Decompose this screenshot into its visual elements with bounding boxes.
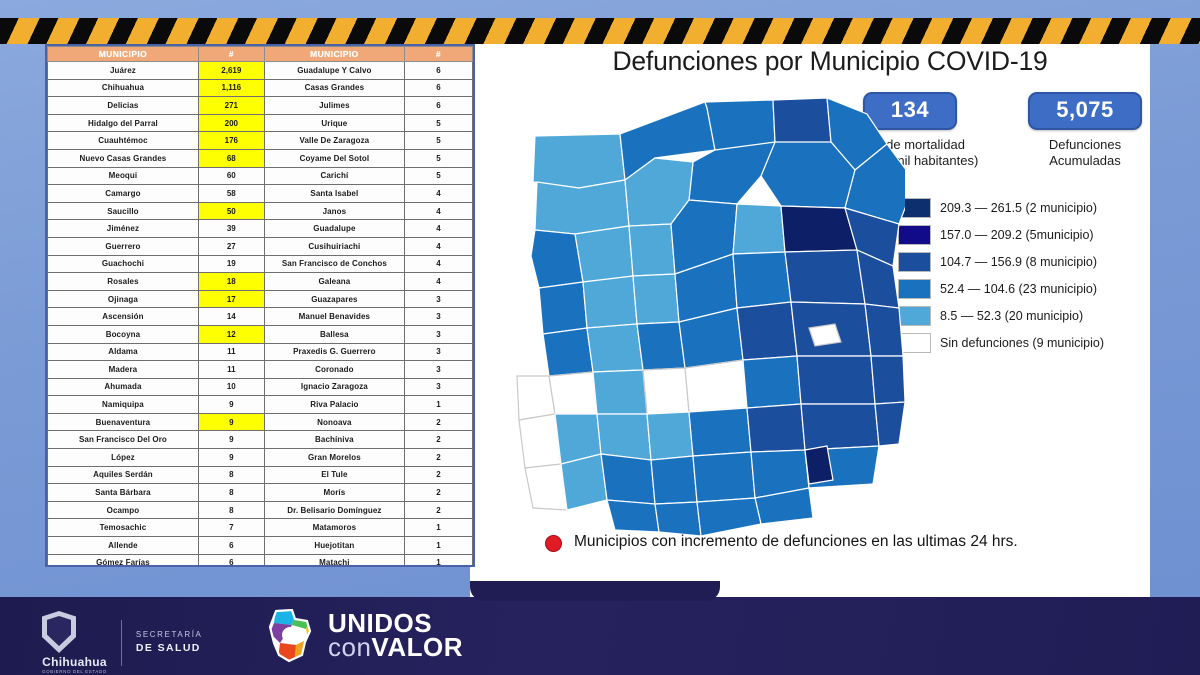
map-region-sin-def-4 [525, 464, 567, 510]
red-dot-icon [545, 535, 562, 552]
table-body: Juárez2,619Guadalupe Y Calvo6Chihuahua1,… [48, 62, 473, 568]
cell-municipio-2: Coyame Del Sotol [264, 149, 404, 167]
cell-municipio-2: Ignacio Zaragoza [264, 378, 404, 396]
cell-municipio-2: Julimes [264, 97, 404, 115]
cell-count-2: 2 [405, 501, 473, 519]
map-region-coyame [785, 250, 865, 304]
cell-municipio-1: Gómez Farías [48, 554, 199, 567]
cell-count-2: 3 [405, 325, 473, 343]
cell-municipio-1: Delicias [48, 97, 199, 115]
cell-municipio-2: Guazapares [264, 290, 404, 308]
cell-municipio-2: Ballesa [264, 325, 404, 343]
map-region-sin-def-5 [643, 368, 689, 414]
table-row: Delicias271Julimes6 [48, 97, 473, 115]
cell-municipio-1: Aldama [48, 343, 199, 361]
state-name: Chihuahua [42, 655, 107, 669]
cell-count-1: 8 [198, 501, 264, 519]
map-svg [475, 84, 905, 539]
footer-notch [470, 581, 720, 601]
municipality-table: MUNICIPIO # MUNICIPIO # Juárez2,619Guada… [47, 46, 473, 567]
map-region-sin-def-3 [519, 414, 561, 468]
map-region-gyc-s [655, 502, 701, 536]
cell-count-1: 200 [198, 114, 264, 132]
stat-value-acumuladas: 5,075 [1028, 92, 1142, 130]
col-header-municipio-1: MUNICIPIO [48, 47, 199, 62]
cell-municipio-2: Nonoava [264, 413, 404, 431]
table-row: Gómez Farías6Matachi1 [48, 554, 473, 567]
cell-municipio-2: Coronado [264, 361, 404, 379]
cell-municipio-1: Chihuahua [48, 79, 199, 97]
cell-count-1: 60 [198, 167, 264, 185]
table-row: Aldama11Praxedis G. Guerrero3 [48, 343, 473, 361]
map-region-aldama [733, 252, 791, 308]
cell-municipio-2: Riva Palacio [264, 396, 404, 414]
cell-count-2: 3 [405, 290, 473, 308]
cell-count-1: 7 [198, 519, 264, 537]
cell-municipio-2: Huejotitan [264, 537, 404, 555]
campaign-con: con [328, 632, 371, 662]
cell-municipio-1: Guerrero [48, 237, 199, 255]
col-header-count-2: # [405, 47, 473, 62]
cell-count-2: 2 [405, 413, 473, 431]
cell-municipio-2: Guadalupe Y Calvo [264, 62, 404, 80]
table-row: San Francisco Del Oro9Bachíniva2 [48, 431, 473, 449]
cell-count-1: 18 [198, 273, 264, 291]
map-region-balleza [689, 408, 751, 456]
campaign-valor: VALOR [371, 632, 463, 662]
cell-count-2: 4 [405, 202, 473, 220]
state-subtitle: GOBIERNO DEL ESTADO [42, 669, 107, 674]
cell-municipio-2: Cusihuiriachi [264, 237, 404, 255]
unidos-con-valor-logo: UNIDOS conVALOR [262, 609, 463, 663]
chihuahua-government-logo: Chihuahua GOBIERNO DEL ESTADO SECRETARÍA… [42, 611, 202, 674]
table-row: Jiménez39Guadalupe4 [48, 220, 473, 238]
table-row: Cuauhtémoc176Valle De Zaragoza5 [48, 132, 473, 150]
col-header-municipio-2: MUNICIPIO [264, 47, 404, 62]
cell-municipio-1: Jiménez [48, 220, 199, 238]
cell-municipio-2: Bachíniva [264, 431, 404, 449]
cell-count-1: 27 [198, 237, 264, 255]
cell-count-2: 1 [405, 554, 473, 567]
map-region-nw-1 [533, 134, 625, 188]
cell-count-1: 271 [198, 97, 264, 115]
increment-footnote: Municipios con incremento de defunciones… [545, 532, 1065, 552]
map-region-guazapares [693, 452, 755, 502]
map-region-ojinaga-dark [781, 206, 857, 252]
cell-municipio-2: Morís [264, 484, 404, 502]
chihuahua-choropleth-map [475, 84, 905, 539]
legend-label: 157.0 — 209.2 (5municipio) [940, 228, 1094, 242]
cell-count-1: 176 [198, 132, 264, 150]
cell-municipio-2: Urique [264, 114, 404, 132]
cell-count-2: 6 [405, 62, 473, 80]
table-row: Allende6Huejotitan1 [48, 537, 473, 555]
cell-municipio-1: Bocoyna [48, 325, 199, 343]
cell-municipio-1: Aquiles Serdán [48, 466, 199, 484]
map-region-bocoyna [593, 370, 647, 414]
map-region-sin-def-2 [549, 372, 597, 414]
table-row: Bocoyna12Ballesa3 [48, 325, 473, 343]
stat-caption-acumuladas-2: Acumuladas [1005, 153, 1150, 169]
cell-count-1: 9 [198, 413, 264, 431]
cell-municipio-1: Juárez [48, 62, 199, 80]
shield-icon [42, 611, 76, 653]
table-row: Juárez2,619Guadalupe Y Calvo6 [48, 62, 473, 80]
cell-municipio-2: Carichí [264, 167, 404, 185]
cell-municipio-2: El Tule [264, 466, 404, 484]
cell-count-2: 2 [405, 449, 473, 467]
cell-municipio-2: San Francisco de Conchos [264, 255, 404, 273]
cell-count-2: 4 [405, 255, 473, 273]
secretaria-line2: DE SALUD [136, 641, 203, 655]
cell-count-1: 19 [198, 255, 264, 273]
cell-count-2: 5 [405, 167, 473, 185]
cell-count-1: 12 [198, 325, 264, 343]
logo-divider [121, 620, 122, 666]
cell-count-1: 6 [198, 537, 264, 555]
cell-count-1: 58 [198, 185, 264, 203]
cell-count-1: 10 [198, 378, 264, 396]
cell-municipio-2: Janos [264, 202, 404, 220]
table-row: Saucillo50Janos4 [48, 202, 473, 220]
cell-municipio-2: Guadalupe [264, 220, 404, 238]
cell-municipio-2: Praxedis G. Guerrero [264, 343, 404, 361]
cell-count-2: 4 [405, 220, 473, 238]
map-region-namiquipa [575, 226, 633, 282]
cell-municipio-1: Ahumada [48, 378, 199, 396]
col-header-count-1: # [198, 47, 264, 62]
cell-municipio-1: Hidalgo del Parral [48, 114, 199, 132]
legend-label: 209.3 — 261.5 (2 municipio) [940, 201, 1097, 215]
stat-caption-acumuladas-1: Defunciones [1005, 137, 1150, 153]
table-row: Camargo58Santa Isabel4 [48, 185, 473, 203]
map-region-jimenez [801, 404, 879, 450]
map-region-moris [561, 454, 607, 510]
cell-count-1: 8 [198, 484, 264, 502]
cell-count-1: 6 [198, 554, 264, 567]
table-row: Rosales18Galeana4 [48, 273, 473, 291]
cell-municipio-2: Dr. Belisario Domínguez [264, 501, 404, 519]
map-region-sin-defunciones-island [809, 324, 841, 346]
map-region-south-3 [697, 498, 761, 536]
map-region-east-2 [865, 304, 903, 356]
legend-row: 8.5 — 52.3 (20 municipio) [898, 306, 1104, 326]
map-region-nonoava [647, 412, 693, 460]
page-title: Defunciones por Municipio COVID-19 [470, 46, 1150, 77]
cell-count-1: 8 [198, 466, 264, 484]
cell-count-1: 1,116 [198, 79, 264, 97]
table-row: Guerrero27Cusihuiriachi4 [48, 237, 473, 255]
table-row: Namiquipa9Riva Palacio1 [48, 396, 473, 414]
cell-count-2: 2 [405, 431, 473, 449]
table-row: Aquiles Serdán8El Tule2 [48, 466, 473, 484]
cell-municipio-1: Ojinaga [48, 290, 199, 308]
cell-municipio-2: Matachi [264, 554, 404, 567]
table-row: Guachochi19San Francisco de Conchos4 [48, 255, 473, 273]
table-row: Hidalgo del Parral200Urique5 [48, 114, 473, 132]
table-row: Nuevo Casas Grandes68Coyame Del Sotol5 [48, 149, 473, 167]
cell-count-1: 9 [198, 396, 264, 414]
map-region-aquiles-serdan [737, 302, 797, 360]
cell-count-2: 3 [405, 378, 473, 396]
cell-municipio-1: Cuauhtémoc [48, 132, 199, 150]
table-row: Santa Bárbara8Morís2 [48, 484, 473, 502]
cell-count-1: 11 [198, 361, 264, 379]
cell-count-2: 3 [405, 361, 473, 379]
cell-count-2: 2 [405, 466, 473, 484]
slide-canvas: MUNICIPIO # MUNICIPIO # Juárez2,619Guada… [0, 0, 1200, 675]
cell-count-2: 6 [405, 97, 473, 115]
cell-count-2: 2 [405, 484, 473, 502]
legend-label: 104.7 — 156.9 (8 municipio) [940, 255, 1097, 269]
cell-count-2: 5 [405, 132, 473, 150]
cell-municipio-1: Temosachic [48, 519, 199, 537]
cell-municipio-2: Santa Isabel [264, 185, 404, 203]
map-region-temosachic [539, 282, 587, 334]
cell-municipio-2: Gran Morelos [264, 449, 404, 467]
cell-count-2: 1 [405, 519, 473, 537]
cell-municipio-2: Valle De Zaragoza [264, 132, 404, 150]
legend-row: 209.3 — 261.5 (2 municipio) [898, 198, 1104, 218]
legend-label: 8.5 — 52.3 (20 municipio) [940, 309, 1083, 323]
map-region-urique [601, 454, 655, 504]
cell-municipio-1: Buenaventura [48, 413, 199, 431]
cell-count-2: 4 [405, 185, 473, 203]
map-region-guadalupe-y-calvo [651, 456, 697, 504]
caution-stripe-top [0, 18, 1200, 44]
cell-municipio-1: Allende [48, 537, 199, 555]
cell-count-1: 2,619 [198, 62, 264, 80]
cell-municipio-1: Guachochi [48, 255, 199, 273]
cell-count-2: 4 [405, 273, 473, 291]
cell-count-1: 39 [198, 220, 264, 238]
legend-row: 104.7 — 156.9 (8 municipio) [898, 252, 1104, 272]
map-region-guadalupe-y-calvo-w [607, 500, 659, 532]
map-region-sin-def-6 [685, 360, 747, 412]
cell-municipio-1: San Francisco Del Oro [48, 431, 199, 449]
cell-count-2: 6 [405, 79, 473, 97]
cell-municipio-1: Meoqui [48, 167, 199, 185]
map-region-cusihuiriachi [637, 322, 685, 370]
map-region-riva-palacio [633, 274, 679, 324]
cell-municipio-1: Rosales [48, 273, 199, 291]
cell-count-1: 50 [198, 202, 264, 220]
map-region-saucillo [747, 404, 805, 452]
legend-label: Sin defunciones (9 municipio) [940, 336, 1104, 350]
cell-municipio-2: Manuel Benavides [264, 308, 404, 326]
map-region-delicias [743, 356, 801, 408]
cell-municipio-1: Ocampo [48, 501, 199, 519]
cell-count-2: 3 [405, 343, 473, 361]
cell-count-1: 9 [198, 449, 264, 467]
map-region-nw-2 [535, 180, 629, 234]
cell-municipio-1: Nuevo Casas Grandes [48, 149, 199, 167]
map-region-east-4 [875, 402, 905, 446]
cell-municipio-2: Matamoros [264, 519, 404, 537]
legend-row: 157.0 — 209.2 (5municipio) [898, 225, 1104, 245]
cell-municipio-2: Casas Grandes [264, 79, 404, 97]
map-region-bachiniva [583, 276, 637, 328]
cell-count-2: 5 [405, 149, 473, 167]
stat-defunciones-acumuladas: 5,075 Defunciones Acumuladas [1005, 92, 1150, 170]
cell-municipio-1: Santa Bárbara [48, 484, 199, 502]
cell-municipio-1: Camargo [48, 185, 199, 203]
cell-count-2: 3 [405, 308, 473, 326]
legend-label: 52.4 — 104.6 (23 municipio) [940, 282, 1097, 296]
footer-bar: Chihuahua GOBIERNO DEL ESTADO SECRETARÍA… [0, 597, 1200, 675]
map-region-camargo [797, 356, 875, 404]
map-region-coyame-w [733, 204, 785, 254]
choropleth-legend: 209.3 — 261.5 (2 municipio)157.0 — 209.2… [898, 198, 1104, 353]
map-region-guerrero [543, 328, 593, 376]
table-row: Ojinaga17Guazapares3 [48, 290, 473, 308]
cell-count-2: 1 [405, 537, 473, 555]
cell-count-2: 1 [405, 396, 473, 414]
cell-count-1: 68 [198, 149, 264, 167]
table-row: López9Gran Morelos2 [48, 449, 473, 467]
map-region-sin-def-1 [517, 376, 555, 420]
table-row: Temosachic7Matamoros1 [48, 519, 473, 537]
table-header-row: MUNICIPIO # MUNICIPIO # [48, 47, 473, 62]
map-region-cuauhtemoc [587, 324, 643, 372]
table-row: Meoqui60Carichí5 [48, 167, 473, 185]
map-region-east-3 [871, 356, 905, 404]
legend-row: 52.4 — 104.6 (23 municipio) [898, 279, 1104, 299]
cell-count-2: 4 [405, 237, 473, 255]
map-region-guachochi-n [597, 414, 651, 460]
footnote-text: Municipios con incremento de defunciones… [574, 532, 1018, 551]
secretaria-line1: SECRETARÍA [136, 630, 203, 641]
legend-row: Sin defunciones (9 municipio) [898, 333, 1104, 353]
map-region-buenaventura [629, 224, 675, 276]
cell-count-1: 17 [198, 290, 264, 308]
cell-municipio-2: Galeana [264, 273, 404, 291]
table-row: Buenaventura9Nonoava2 [48, 413, 473, 431]
cell-municipio-1: Madera [48, 361, 199, 379]
table-row: Ocampo8Dr. Belisario Domínguez2 [48, 501, 473, 519]
municipality-table-panel: MUNICIPIO # MUNICIPIO # Juárez2,619Guada… [45, 44, 475, 567]
map-content-panel: Defunciones por Municipio COVID-19 134 T… [470, 26, 1150, 644]
chihuahua-state-shape-icon [262, 609, 318, 663]
table-row: Ascensión14Manuel Benavides3 [48, 308, 473, 326]
cell-municipio-1: Saucillo [48, 202, 199, 220]
table-row: Ahumada10Ignacio Zaragoza3 [48, 378, 473, 396]
table-row: Chihuahua1,116Casas Grandes6 [48, 79, 473, 97]
cell-count-1: 11 [198, 343, 264, 361]
cell-municipio-1: López [48, 449, 199, 467]
cell-count-1: 14 [198, 308, 264, 326]
table-row: Madera11Coronado3 [48, 361, 473, 379]
cell-count-1: 9 [198, 431, 264, 449]
cell-count-2: 5 [405, 114, 473, 132]
cell-municipio-1: Ascensión [48, 308, 199, 326]
cell-municipio-1: Namiquipa [48, 396, 199, 414]
